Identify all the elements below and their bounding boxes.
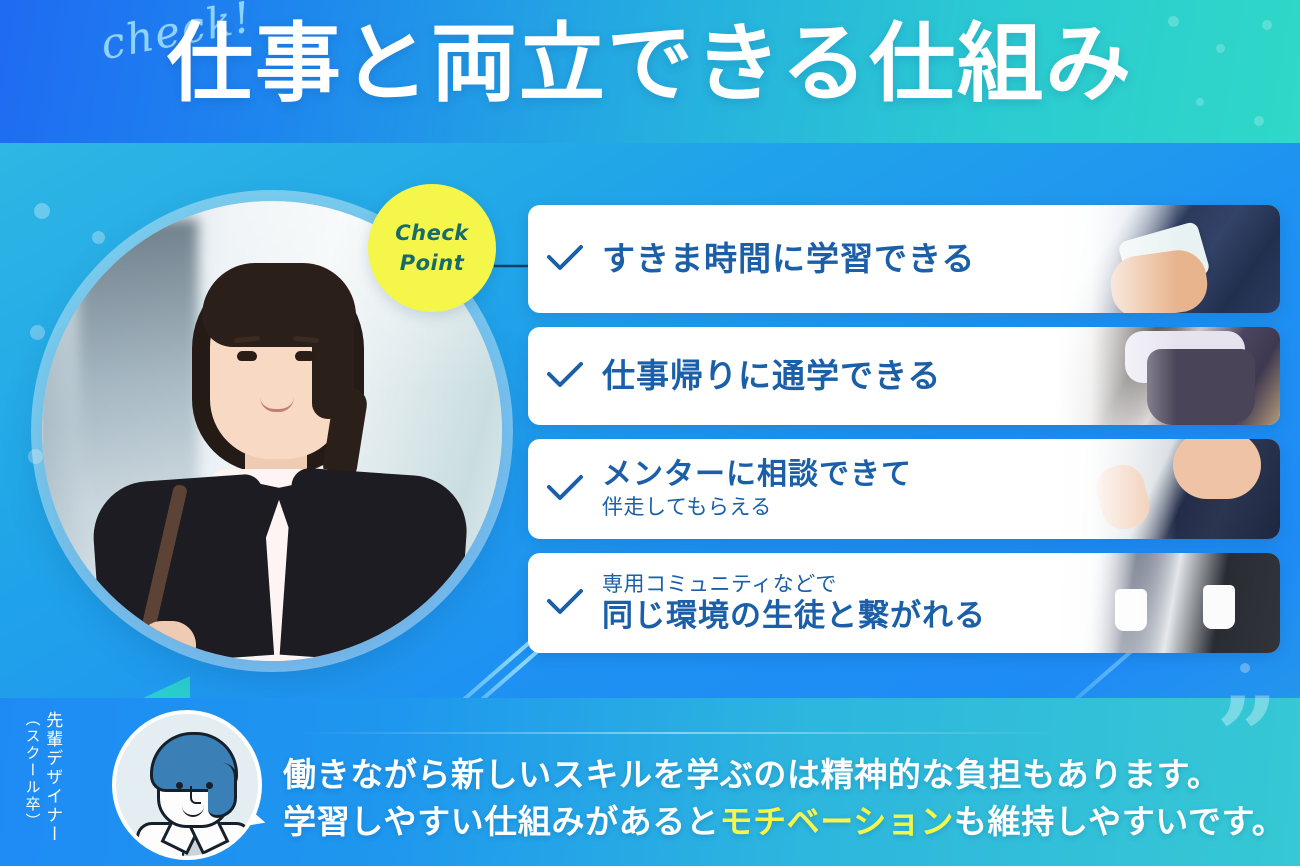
benefit-card-list: すきま時間に学習できる 仕事帰りに通学できる メンターに相談できて: [528, 205, 1280, 653]
hero-eye-right: [295, 351, 315, 361]
benefit-card-4[interactable]: 専用コミュニティなどで 同じ環境の生徒と繋がれる: [528, 553, 1280, 653]
check-point-line2: Point: [400, 251, 465, 275]
check-point-badge: Check Point: [368, 184, 496, 312]
check-icon: [528, 244, 602, 274]
avatar-hair: [150, 732, 238, 792]
avatar-eye-left: [176, 782, 183, 789]
header-banner: check! 仕事と両立できる仕組み: [0, 0, 1300, 143]
ticket-gate-commute-photo: [1055, 327, 1280, 425]
quote-line-2-pre: 学習しやすい仕組みがあると: [283, 802, 719, 841]
check-icon: [528, 588, 602, 618]
benefit-card-3[interactable]: メンターに相談できて 伴走してもらえる: [528, 439, 1280, 539]
testimonial-quote: 働きながら新しいスキルを学ぶのは精神的な負担もあります。 学習しやすい仕組みがあ…: [283, 752, 1283, 846]
avatar-nose: [190, 786, 201, 804]
quote-line-2: 学習しやすい仕組みがあるとモチベーションも維持しやすいです。: [283, 799, 1283, 846]
role-label-sub: （スクール卒）: [24, 711, 41, 830]
hero-hair-front: [202, 263, 356, 347]
check-point-line1: Check: [395, 221, 469, 245]
check-icon: [528, 361, 602, 391]
quote-line-2-post: も維持しやすいです。: [954, 802, 1285, 841]
smiling-mentor-photo: [1055, 439, 1280, 539]
benefit-card-1[interactable]: すきま時間に学習できる: [528, 205, 1280, 313]
main-body: Check Point すきま時間に学習できる: [0, 143, 1300, 866]
smartphone-in-hands-photo: [1055, 205, 1280, 313]
avatar-eye-right: [206, 782, 213, 789]
quote-line-2-highlight: モチベーション: [719, 802, 954, 841]
page-title: 仕事と両立できる仕組み: [0, 14, 1300, 115]
person-avatar-icon: [112, 710, 262, 860]
role-label-main: 先輩デザイナー: [43, 711, 62, 844]
infographic-stage: check! 仕事と両立できる仕組み: [0, 0, 1300, 866]
two-women-chatting-photo: [1055, 553, 1280, 653]
testimonial-role-label: 先輩デザイナー （スクール卒）: [24, 711, 61, 844]
hero-eye-left: [237, 351, 257, 361]
testimonial-divider: [300, 732, 1060, 734]
hero-hand: [138, 621, 196, 661]
benefit-card-2[interactable]: 仕事帰りに通学できる: [528, 327, 1280, 425]
quote-line-1: 働きながら新しいスキルを学ぶのは精神的な負担もあります。: [283, 752, 1283, 799]
check-icon: [528, 474, 602, 504]
avatar-circle: [112, 710, 262, 860]
